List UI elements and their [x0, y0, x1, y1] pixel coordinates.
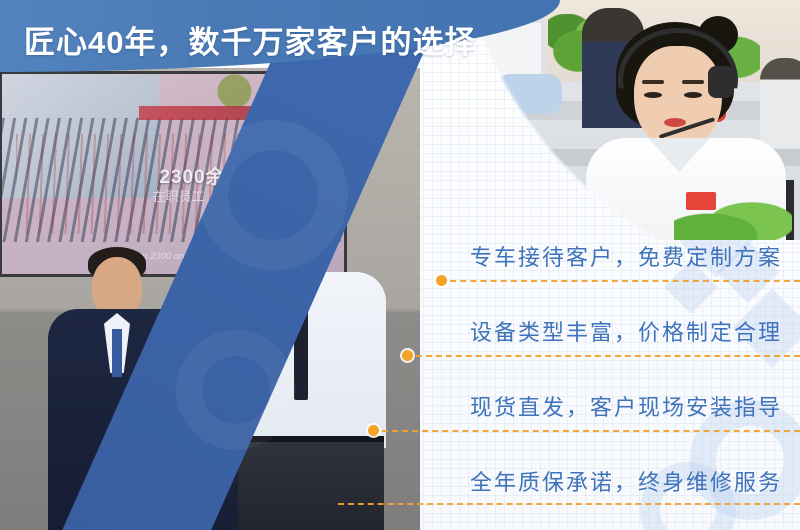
feature-dot-1 — [436, 275, 447, 286]
feature-divider-2 — [406, 355, 800, 357]
screen-headcount-text: 2300余人 — [159, 162, 245, 189]
eye-right — [684, 92, 702, 98]
feature-dot-2 — [402, 350, 413, 361]
feature-row-1[interactable]: 专车接待客户，免费定制方案 — [330, 230, 800, 286]
face — [634, 46, 722, 150]
feature-label-3: 现货直发，客户现场安装指导 — [470, 390, 782, 422]
head — [92, 257, 142, 317]
glasses-icon — [276, 236, 332, 248]
headset-earcup — [708, 66, 734, 98]
screen-subtitle-text: 在职员工 — [152, 186, 204, 205]
feature-list: 专车接待客户，免费定制方案 设备类型丰富，价格制定合理 现货直发，客户现场安装指… — [330, 200, 800, 520]
feature-label-2: 设备类型丰富，价格制定合理 — [470, 315, 782, 347]
necktie — [112, 329, 122, 377]
blue-item — [496, 74, 562, 114]
feature-row-3[interactable]: 现货直发，客户现场安装指导 — [330, 380, 800, 436]
page-title: 匠心40年，数千万家客户的选择 — [24, 17, 476, 62]
feature-dot-3 — [368, 425, 379, 436]
eyebrow-left — [642, 80, 664, 84]
feature-label-4: 全年质保承诺，终身维修服务 — [470, 465, 782, 497]
header-bar: 匠心40年，数千万家客户的选择 — [0, 0, 560, 72]
screen-banner — [139, 106, 255, 120]
feature-divider-1 — [440, 280, 800, 282]
feature-row-2[interactable]: 设备类型丰富，价格制定合理 — [330, 305, 800, 361]
feature-divider-3 — [372, 430, 800, 432]
head — [186, 356, 228, 406]
eyebrow-right — [682, 80, 704, 84]
eye-left — [644, 92, 662, 98]
necktie — [294, 280, 308, 400]
feature-divider-4 — [338, 503, 800, 505]
lips — [664, 118, 686, 127]
promo-banner: 2300余人 在职员工 more than 2300 online employ… — [0, 0, 800, 530]
feature-label-1: 专车接待客户，免费定制方案 — [470, 240, 782, 272]
